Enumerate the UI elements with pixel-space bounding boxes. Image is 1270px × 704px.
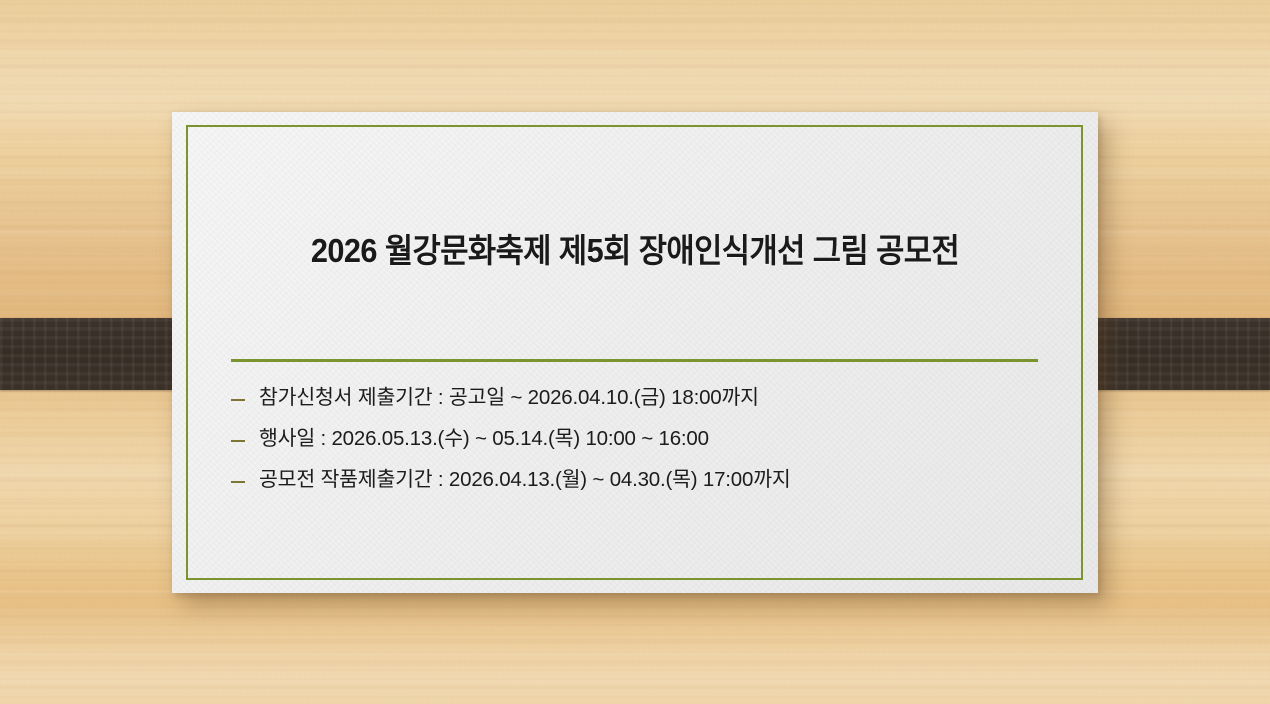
dash-bullet-icon — [231, 390, 259, 401]
title-divider — [231, 359, 1038, 362]
list-item: 행사일 : 2026.05.13.(수) ~ 05.14.(목) 10:00 ~… — [231, 421, 1061, 462]
content-card: 2026 월강문화축제 제5회 장애인식개선 그림 공모전 참가신청서 제출기간… — [172, 112, 1098, 593]
list-item-label: 행사일 : 2026.05.13.(수) ~ 05.14.(목) 10:00 ~… — [259, 421, 709, 451]
slide-canvas: 2026 월강문화축제 제5회 장애인식개선 그림 공모전 참가신청서 제출기간… — [0, 0, 1270, 704]
dash-bullet-icon — [231, 431, 259, 442]
list-item: 참가신청서 제출기간 : 공고일 ~ 2026.04.10.(금) 18:00까… — [231, 380, 1061, 421]
card-content: 2026 월강문화축제 제5회 장애인식개선 그림 공모전 참가신청서 제출기간… — [172, 112, 1098, 593]
dash-bullet-icon — [231, 472, 259, 483]
list-item-label: 참가신청서 제출기간 : 공고일 ~ 2026.04.10.(금) 18:00까… — [259, 380, 759, 410]
bullet-list: 참가신청서 제출기간 : 공고일 ~ 2026.04.10.(금) 18:00까… — [231, 380, 1061, 503]
page-title: 2026 월강문화축제 제5회 장애인식개선 그림 공모전 — [204, 224, 1065, 272]
list-item: 공모전 작품제출기간 : 2026.04.13.(월) ~ 04.30.(목) … — [231, 462, 1061, 503]
list-item-label: 공모전 작품제출기간 : 2026.04.13.(월) ~ 04.30.(목) … — [259, 462, 791, 492]
